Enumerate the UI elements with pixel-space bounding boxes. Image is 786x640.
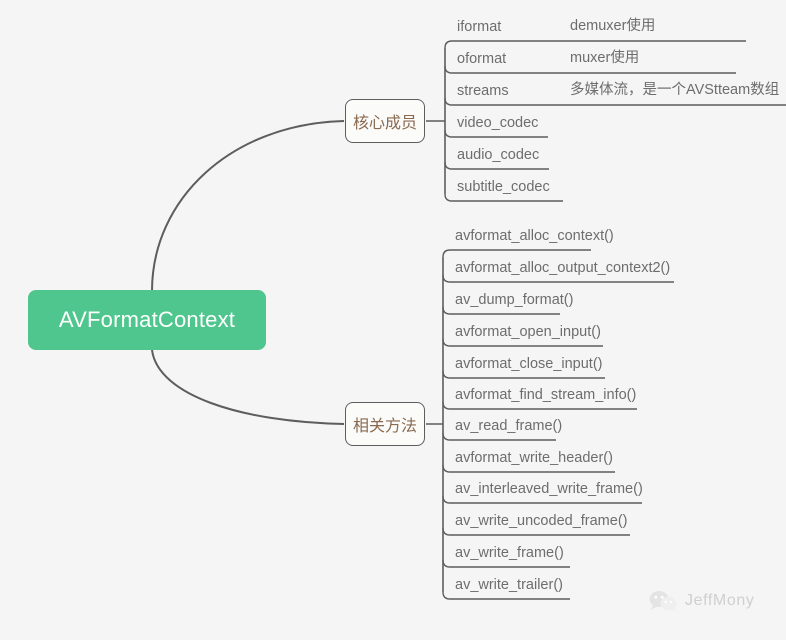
watermark: JeffMony xyxy=(648,590,754,612)
leaf-name: avformat_write_header() xyxy=(455,450,613,466)
leaf-name: av_dump_format() xyxy=(455,292,573,308)
leaf-rule-related-methods-3 xyxy=(443,339,603,346)
leaf-name: iformat xyxy=(457,19,501,35)
leaf-name: oformat xyxy=(457,51,506,67)
leaf-name: audio_codec xyxy=(457,147,539,163)
branch-node-related-methods[interactable]: 相关方法 xyxy=(345,402,425,446)
leaf-name: av_write_uncoded_frame() xyxy=(455,513,627,529)
leaf-name: subtitle_codec xyxy=(457,179,550,195)
root-node-label: AVFormatContext xyxy=(59,307,235,333)
leaf-name: av_interleaved_write_frame() xyxy=(455,481,643,497)
wechat-icon xyxy=(648,590,678,612)
leaf-rule-related-methods-7 xyxy=(443,465,615,472)
connector-root-to-core-members xyxy=(152,121,344,291)
leaf-name: av_write_frame() xyxy=(455,545,564,561)
leaf-rule-core-members-1 xyxy=(445,66,588,73)
branch-node-related-methods-label: 相关方法 xyxy=(353,412,417,436)
leaf-name: video_codec xyxy=(457,115,538,131)
leaf-rule-related-methods-2 xyxy=(443,307,560,314)
leaf-description: 多媒体流，是一个AVStteam数组 xyxy=(570,78,779,99)
leaf-name: avformat_alloc_output_context2() xyxy=(455,260,670,276)
connector-root-to-related-methods xyxy=(152,350,344,424)
leaf-rule-related-methods-9 xyxy=(443,528,630,535)
leaf-name: avformat_find_stream_info() xyxy=(455,387,636,403)
leaf-name: av_read_frame() xyxy=(455,418,562,434)
leaf-rule-related-methods-1 xyxy=(443,275,674,282)
leaf-rule-core-members-3 xyxy=(445,130,548,137)
leaf-rule-related-methods-10 xyxy=(443,560,570,567)
leaf-name: avformat_open_input() xyxy=(455,324,601,340)
leaf-description: demuxer使用 xyxy=(570,14,655,35)
leaf-rule-core-members-5 xyxy=(445,194,563,201)
leaf-rule-related-methods-4 xyxy=(443,371,605,378)
leaf-rule-related-methods-0 xyxy=(443,250,591,257)
leaf-rule-related-methods-6 xyxy=(443,433,556,440)
leaf-name: streams xyxy=(457,83,509,99)
branch-node-core-members[interactable]: 核心成员 xyxy=(345,99,425,143)
leaf-name: avformat_close_input() xyxy=(455,356,603,372)
leaf-rule-related-methods-8 xyxy=(443,496,642,503)
leaf-rule-related-methods-11 xyxy=(443,592,570,599)
leaf-name: av_write_trailer() xyxy=(455,577,563,593)
mindmap-canvas: AVFormatContext 核心成员 相关方法 iformatdemuxer… xyxy=(0,0,786,640)
leaf-rule-core-members-2 xyxy=(445,98,580,105)
branch-node-core-members-label: 核心成员 xyxy=(353,109,417,133)
leaf-description: muxer使用 xyxy=(570,46,639,67)
root-node[interactable]: AVFormatContext xyxy=(28,290,266,350)
watermark-label: JeffMony xyxy=(685,592,754,610)
leaf-rule-core-members-4 xyxy=(445,162,549,169)
leaf-rule-related-methods-5 xyxy=(443,402,637,409)
leaf-name: avformat_alloc_context() xyxy=(455,228,614,244)
